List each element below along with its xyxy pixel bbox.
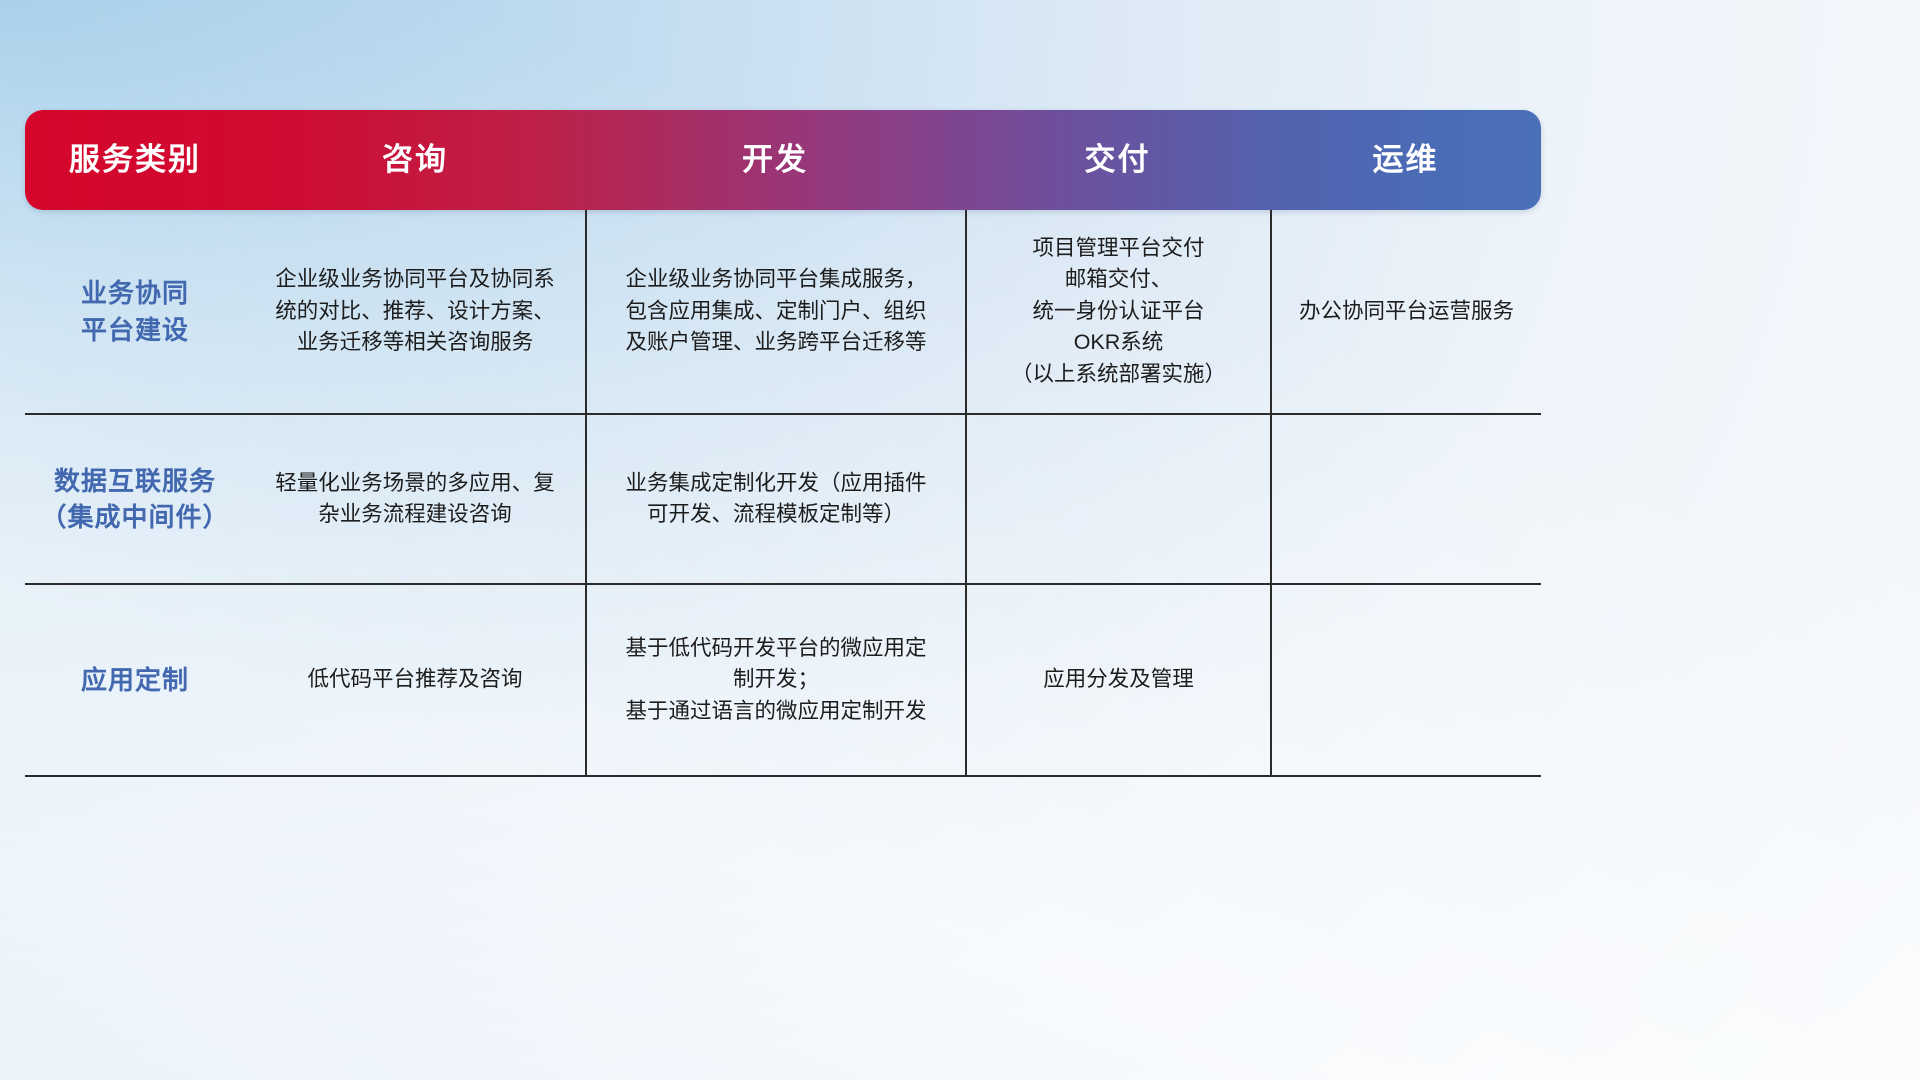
header-service-category: 服务类别 <box>25 143 245 177</box>
header-consulting: 咨询 <box>245 143 585 177</box>
cell-delivery: 应用分发及管理 <box>965 585 1270 775</box>
cell-operations <box>1270 585 1541 775</box>
header-operations: 运维 <box>1270 143 1541 177</box>
cell-delivery: 项目管理平台交付 邮箱交付、 统一身份认证平台 OKR系统 （以上系统部署实施） <box>965 210 1270 413</box>
row-category-label: 业务协同 平台建设 <box>25 210 245 413</box>
table-row: 业务协同 平台建设 企业级业务协同平台及协同系 统的对比、推荐、设计方案、 业务… <box>25 210 1541 415</box>
cell-consulting: 轻量化业务场景的多应用、复 杂业务流程建设咨询 <box>245 415 585 583</box>
cell-consulting: 企业级业务协同平台及协同系 统的对比、推荐、设计方案、 业务迁移等相关咨询服务 <box>245 210 585 413</box>
cell-operations: 办公协同平台运营服务 <box>1270 210 1541 413</box>
table-row: 应用定制 低代码平台推荐及咨询 基于低代码开发平台的微应用定 制开发； 基于通过… <box>25 585 1541 777</box>
header-delivery: 交付 <box>965 143 1270 177</box>
cell-development: 基于低代码开发平台的微应用定 制开发； 基于通过语言的微应用定制开发 <box>585 585 965 775</box>
cell-operations <box>1270 415 1541 583</box>
service-matrix-table: 服务类别 咨询 开发 交付 运维 业务协同 平台建设 企业级业务协同平台及协同系… <box>25 110 1541 778</box>
cell-consulting: 低代码平台推荐及咨询 <box>245 585 585 775</box>
cell-development: 企业级业务协同平台集成服务， 包含应用集成、定制门户、组织 及账户管理、业务跨平… <box>585 210 965 413</box>
header-development: 开发 <box>585 143 965 177</box>
table-header-row: 服务类别 咨询 开发 交付 运维 <box>25 110 1541 210</box>
table-row: 数据互联服务 （集成中间件） 轻量化业务场景的多应用、复 杂业务流程建设咨询 业… <box>25 415 1541 585</box>
row-category-label: 数据互联服务 （集成中间件） <box>25 415 245 583</box>
table-body: 业务协同 平台建设 企业级业务协同平台及协同系 统的对比、推荐、设计方案、 业务… <box>25 210 1541 777</box>
row-category-label: 应用定制 <box>25 585 245 775</box>
cell-delivery <box>965 415 1270 583</box>
cell-development: 业务集成定制化开发（应用插件 可开发、流程模板定制等） <box>585 415 965 583</box>
